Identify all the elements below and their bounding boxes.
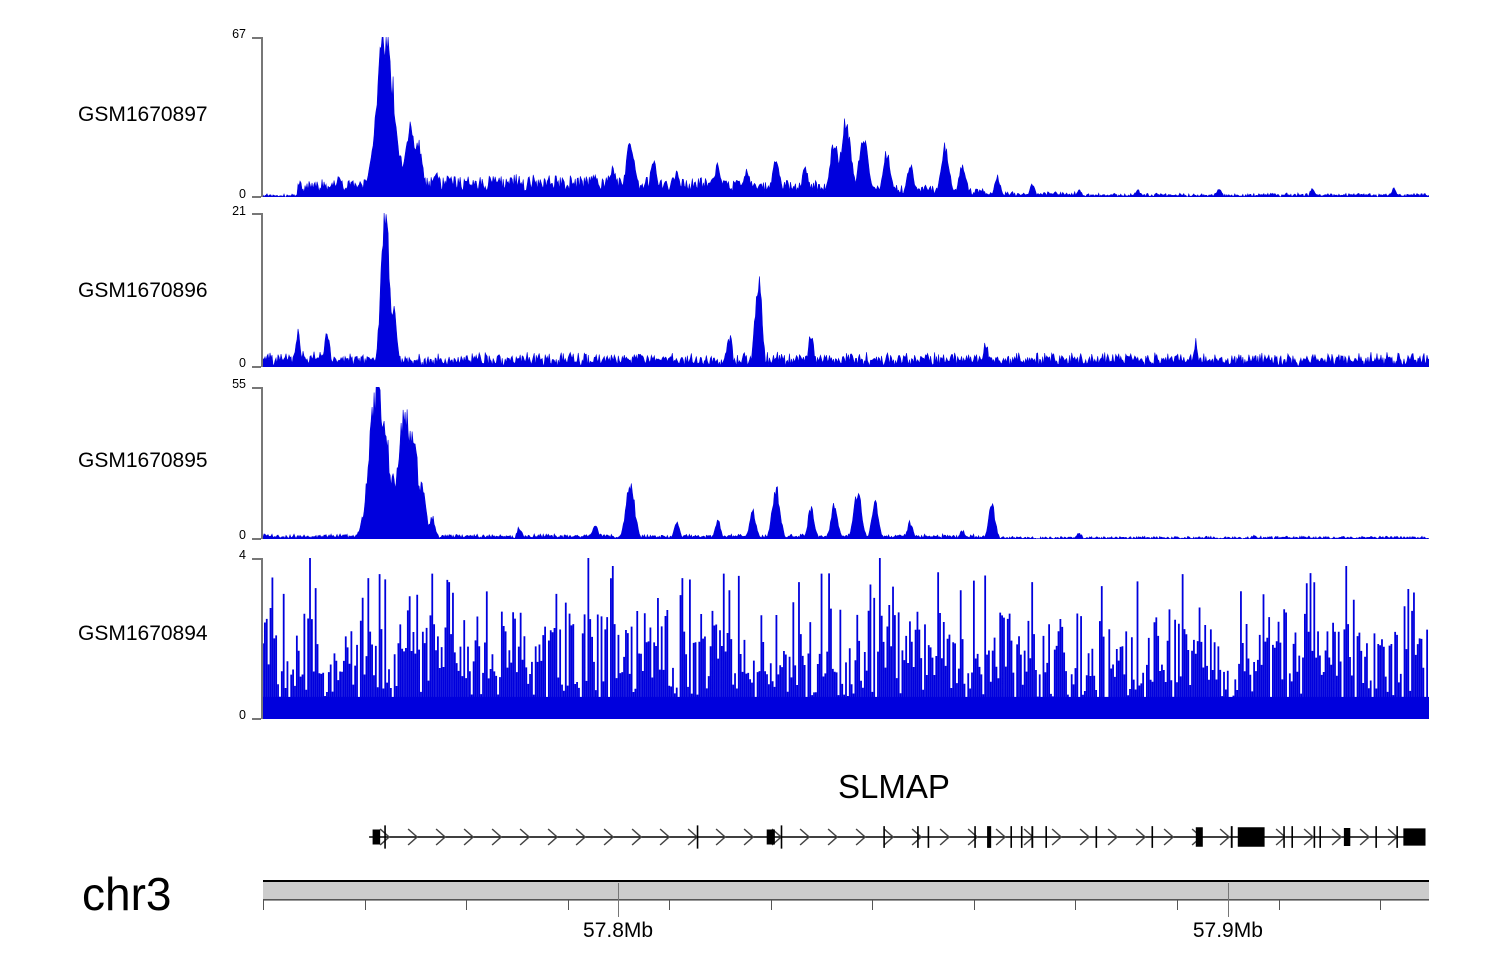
axis-tick-label: 57.9Mb [1193,919,1263,943]
axis-tick-minor [1279,899,1280,910]
track-label: GSM1670895 [78,449,208,473]
axis-tick-minor [466,899,467,910]
axis-tick-bottom [252,538,261,540]
coverage-plot [263,37,1429,197]
axis-tick-minor [1380,899,1381,910]
axis-tick-minor [669,899,670,910]
axis-max-value: 21 [214,205,246,218]
axis-max-value: 55 [214,378,246,391]
axis-tick-major [1228,883,1229,917]
chromosome-label: chr3 [82,867,171,921]
coverage-plot [263,387,1429,539]
coverage-plot [263,213,1429,367]
axis-rule [263,899,1429,900]
track-label: GSM1670897 [78,103,208,127]
axis-tick-minor [974,899,975,910]
axis-tick-minor [771,899,772,910]
track-label: GSM1670894 [78,622,208,646]
ideogram-bar[interactable] [263,880,1429,901]
axis-tick-bottom [252,366,261,368]
axis-tick-minor [872,899,873,910]
axis-tick-top [252,387,261,389]
axis-tick-top [252,37,261,39]
axis-min-value: 0 [214,529,246,542]
axis-tick-top [252,213,261,215]
axis-tick-minor [1075,899,1076,910]
axis-max-value: 67 [214,28,246,41]
axis-tick-minor [1177,899,1178,910]
gene-model-track[interactable] [263,795,1429,870]
axis-tick-minor [263,899,264,910]
axis-min-value: 0 [214,709,246,722]
axis-tick-top [252,558,261,560]
axis-tick-major [618,883,619,917]
axis-max-value: 4 [214,549,246,562]
axis-tick-bottom [252,196,261,198]
genome-browser-view: GSM1670897 67 0 GSM1670896 21 0 GSM16708… [0,0,1500,980]
axis-tick-bottom [252,718,261,720]
axis-tick-label: 57.8Mb [583,919,653,943]
coverage-plot [263,558,1429,719]
axis-tick-minor [365,899,366,910]
track-label: GSM1670896 [78,279,208,303]
axis-tick-minor [568,899,569,910]
axis-min-value: 0 [214,188,246,201]
axis-min-value: 0 [214,357,246,370]
